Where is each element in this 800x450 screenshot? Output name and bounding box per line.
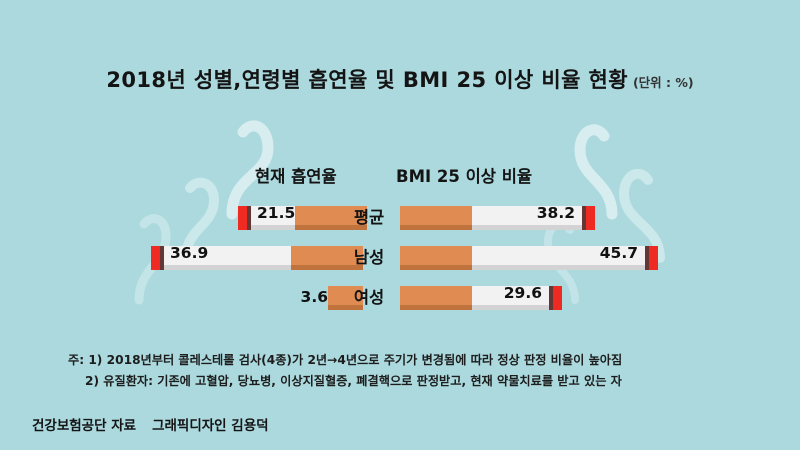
cigarette-ember-icon bbox=[151, 246, 164, 270]
credit-designer: 그래픽디자인 김용덕 bbox=[152, 418, 268, 434]
bar-right-value: 29.6 bbox=[504, 286, 542, 302]
bar-left-body: 21.5 bbox=[251, 206, 295, 230]
row-category-label: 여성 bbox=[343, 286, 395, 310]
title-unit: (단위 : %) bbox=[633, 75, 694, 90]
infographic-canvas: 2018년 성별,연령별 흡연율 및 BMI 25 이상 비율 현황(단위 : … bbox=[0, 0, 800, 450]
cigarette-ember-icon bbox=[645, 246, 658, 270]
chart-row: 36.9 남성 45.7 bbox=[0, 238, 800, 278]
bar-right: 29.6 bbox=[400, 286, 562, 310]
footnote-2: 2) 유질환자: 기존에 고혈압, 당뇨병, 이상지질혈증, 폐결핵으로 판정받… bbox=[68, 371, 768, 392]
header-smoking-rate: 현재 흡연율 bbox=[255, 163, 337, 187]
chart-row: 3.6 여성 29.6 bbox=[0, 278, 800, 318]
row-category-label: 평균 bbox=[343, 206, 395, 230]
bar-right: 45.7 bbox=[400, 246, 658, 270]
bar-right-value: 45.7 bbox=[600, 246, 638, 262]
diverging-bar-chart: 21.5 평균 38.2 36.9 남성 bbox=[0, 198, 800, 318]
bar-left: 36.9 bbox=[151, 246, 363, 270]
bar-left-body: 36.9 bbox=[164, 246, 291, 270]
bar-right-body: 38.2 bbox=[472, 206, 582, 230]
header-bmi-rate: BMI 25 이상 비율 bbox=[396, 163, 532, 187]
title-text: 2018년 성별,연령별 흡연율 및 BMI 25 이상 비율 현황 bbox=[106, 68, 628, 92]
credit-source: 건강보험공단 자료 bbox=[32, 418, 136, 434]
cigarette-ember-icon bbox=[582, 206, 595, 230]
chart-row: 21.5 평균 38.2 bbox=[0, 198, 800, 238]
cigarette-filter bbox=[400, 206, 472, 230]
bar-right: 38.2 bbox=[400, 206, 595, 230]
bar-left-value: 3.6 bbox=[301, 290, 328, 306]
cigarette-filter bbox=[400, 246, 472, 270]
bar-left-value: 21.5 bbox=[257, 206, 295, 222]
bar-right-body: 29.6 bbox=[472, 286, 549, 310]
footnote-1: 주: 1) 2018년부터 콜레스테롤 검사(4종)가 2년→4년으로 주기가 … bbox=[68, 350, 768, 371]
cigarette-filter bbox=[400, 286, 472, 310]
cigarette-ember-icon bbox=[238, 206, 251, 230]
bar-right-value: 38.2 bbox=[537, 206, 575, 222]
bar-left-value: 36.9 bbox=[170, 246, 208, 262]
footnotes: 주: 1) 2018년부터 콜레스테롤 검사(4종)가 2년→4년으로 주기가 … bbox=[68, 350, 768, 392]
bar-right-body: 45.7 bbox=[472, 246, 645, 270]
column-headers: 현재 흡연율 BMI 25 이상 비율 bbox=[0, 163, 800, 187]
credit-line: 건강보험공단 자료그래픽디자인 김용덕 bbox=[32, 414, 269, 434]
page-title: 2018년 성별,연령별 흡연율 및 BMI 25 이상 비율 현황(단위 : … bbox=[0, 64, 800, 94]
cigarette-ember-icon bbox=[549, 286, 562, 310]
row-category-label: 남성 bbox=[343, 246, 395, 270]
